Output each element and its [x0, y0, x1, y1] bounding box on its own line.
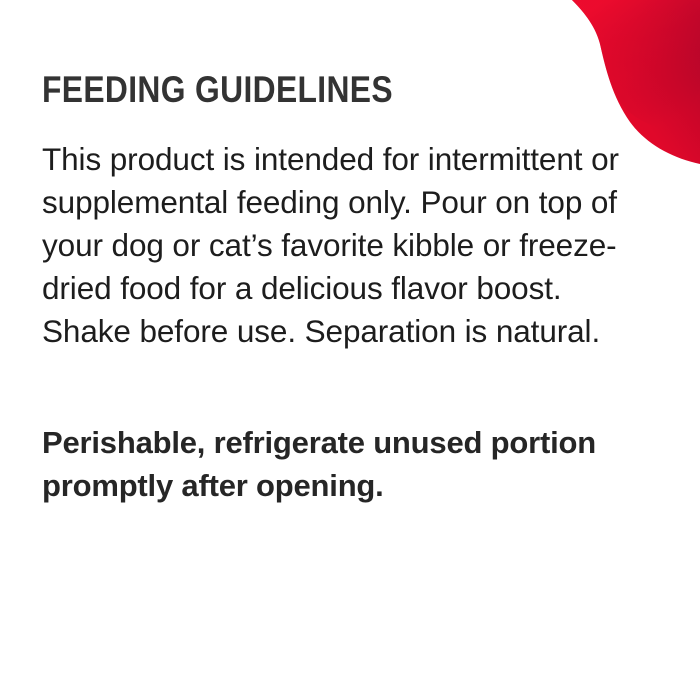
- perishable-warning-block: Perishable, refrigerate unused portion p…: [42, 421, 658, 507]
- intro-paragraph-text: This product is intended for intermitten…: [42, 138, 658, 353]
- perishable-warning-text: Perishable, refrigerate unused portion p…: [42, 421, 658, 507]
- intro-paragraph-block: This product is intended for intermitten…: [42, 138, 658, 353]
- feeding-guidelines-panel: FEEDING GUIDELINES This product is inten…: [0, 0, 700, 700]
- page-title: FEEDING GUIDELINES: [42, 70, 393, 110]
